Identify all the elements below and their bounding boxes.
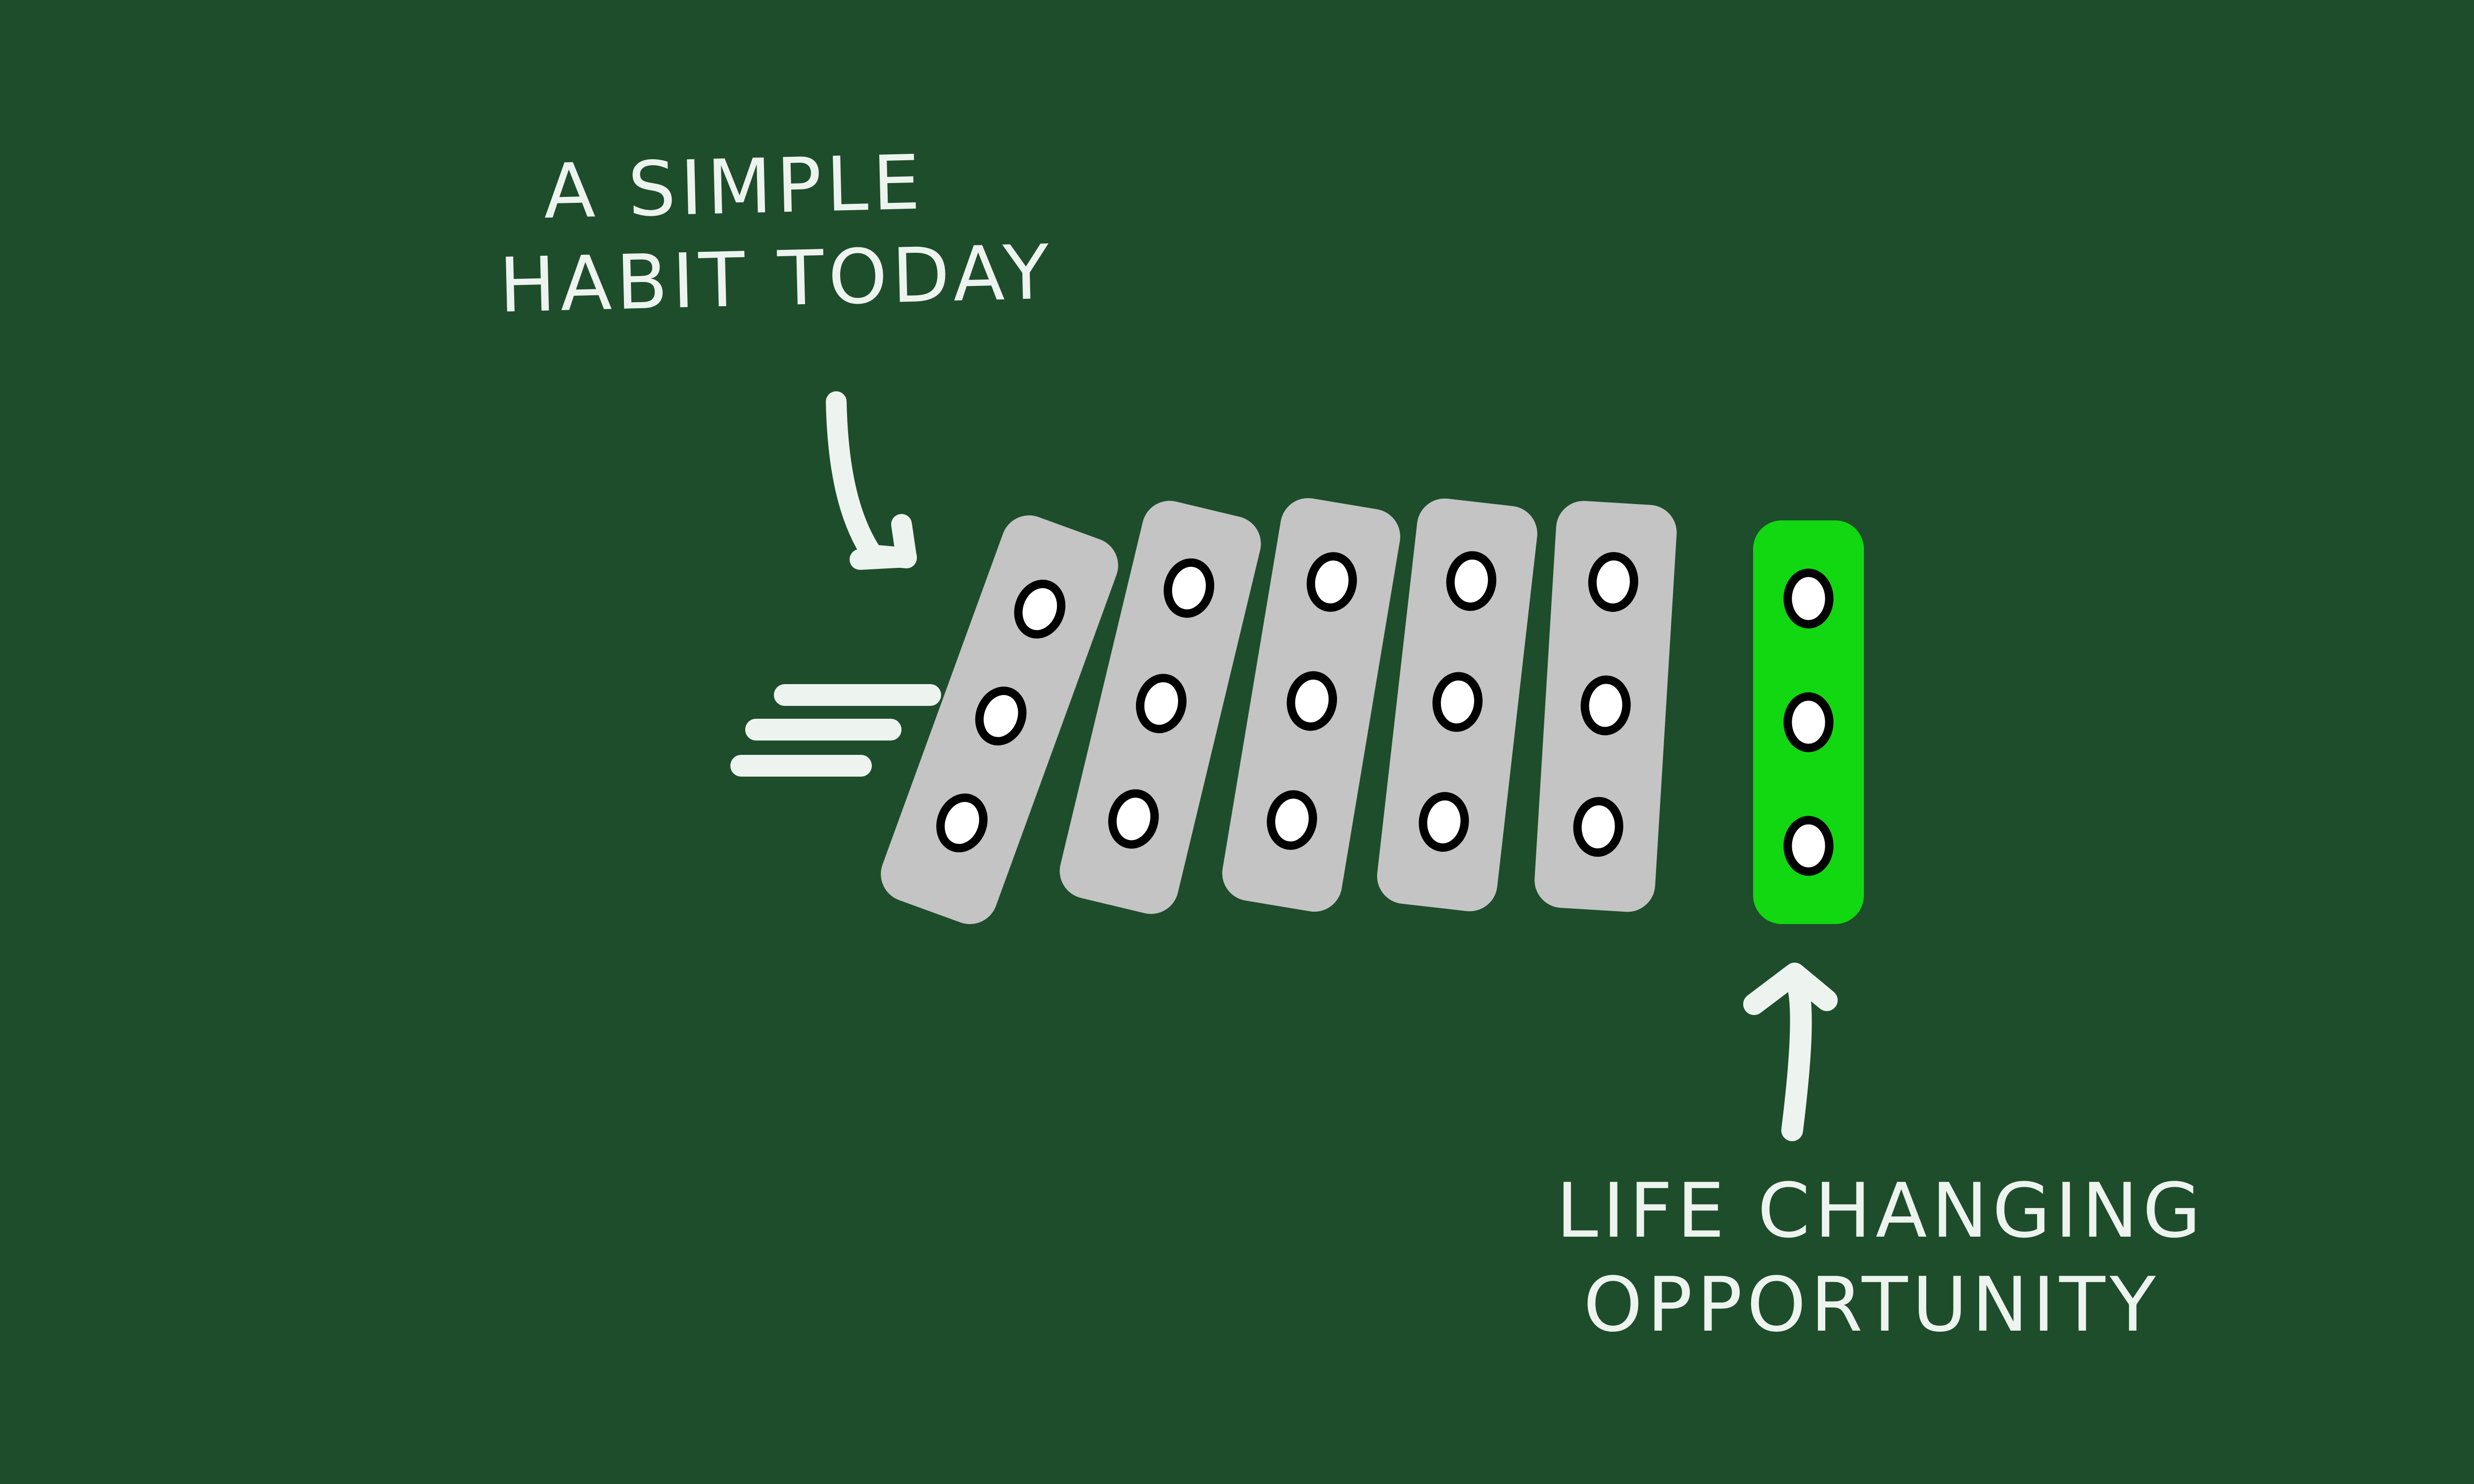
domino-6-pips [1788,573,1829,872]
illustration-canvas: A SIMPLE HABIT TODAY [0,0,2474,1484]
bottom-label-line2: OPPORTUNITY [1583,1261,2160,1348]
domino-6-highlighted[interactable] [1753,520,1864,924]
top-label-line2: HABIT TODAY [498,229,1055,329]
domino-effect-illustration: A SIMPLE HABIT TODAY [0,0,2474,1484]
domino-5[interactable] [1533,499,1678,913]
top-label-line1: A SIMPLE [543,139,926,235]
bottom-label-line1: LIFE CHANGING [1556,1167,2205,1254]
